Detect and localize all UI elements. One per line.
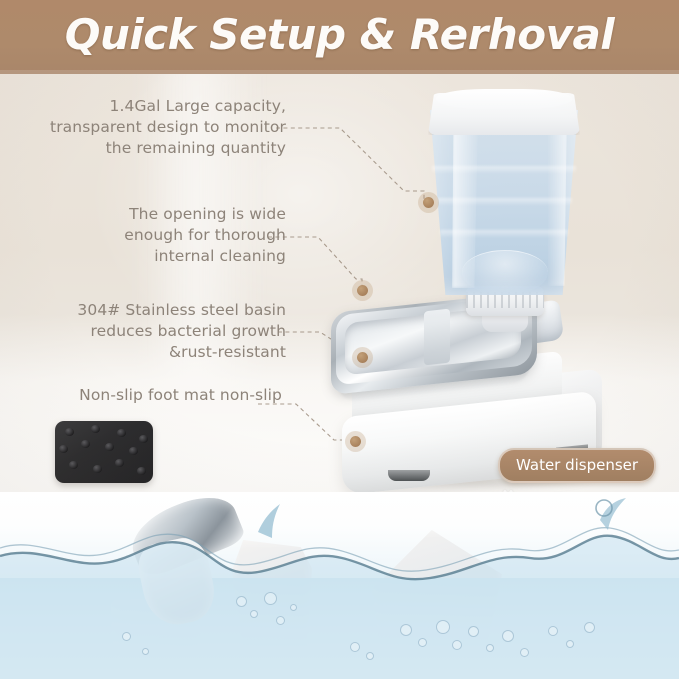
bubble [400,624,412,636]
bubble [122,632,131,641]
water-splash-band [0,492,679,679]
bubble [418,638,427,647]
water-dispenser-product [0,74,679,492]
bubble [436,620,450,634]
product-scene: 1.4Gal Large capacity, transparent desig… [0,74,679,492]
callout-dot-opening [357,285,368,296]
product-infographic: Quick Setup & Rerhoval 1.4Gal Large capa… [0,0,679,679]
water-splash-crest-left [258,504,280,538]
tank-lid-top-face [436,89,572,109]
bubble [264,592,277,605]
bubble [520,648,529,657]
header-banner: Quick Setup & Rerhoval [0,0,679,74]
bubble [366,652,374,660]
bubble [142,648,149,655]
callout-dot-footmat [350,436,361,447]
callout-dot-basin [357,352,368,363]
base-foot-front [388,470,430,481]
bubble [290,604,297,611]
bubble [350,642,360,652]
bubble [276,616,285,625]
bubble [250,610,258,618]
tank-highlight-left [452,116,478,288]
bubble [486,644,494,652]
bubble [566,640,574,648]
page-title: Quick Setup & Rerhoval [0,8,679,62]
water-splash-crest-right [600,498,626,530]
bubble [584,622,595,633]
callout-dot-capacity [423,197,434,208]
water-surface [0,492,679,679]
bubble [452,640,462,650]
basin-divider [424,309,450,366]
bubble [236,596,247,607]
bubble [468,626,479,637]
bubble [502,630,514,642]
bubble [548,626,558,636]
product-name-badge: Water dispenser [498,448,656,483]
